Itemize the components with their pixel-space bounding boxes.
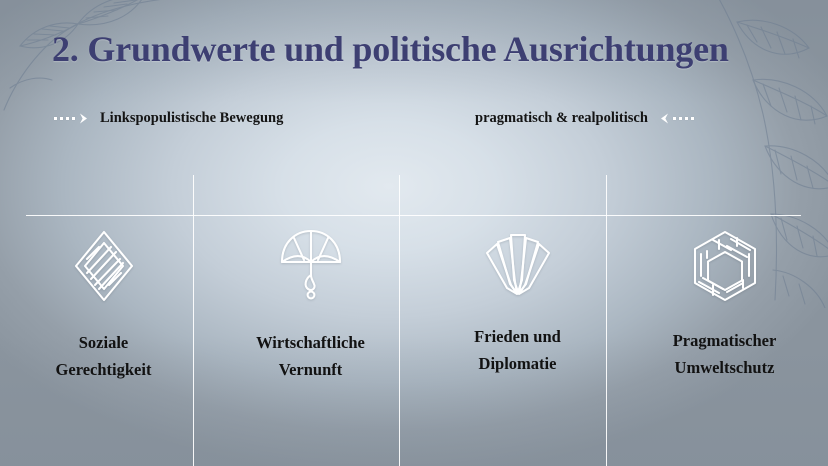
- value-column-soziale-gerechtigkeit: Soziale Gerechtigkeit: [0, 228, 207, 383]
- radiating-fan-icon: [482, 228, 554, 304]
- striped-hexagon-icon: [689, 228, 761, 304]
- axis-label-right: pragmatisch & realpolitisch: [475, 110, 694, 127]
- value-column-wirtschaftliche-vernunft: Wirtschaftliche Vernunft: [207, 228, 414, 383]
- axis-label-right-text: pragmatisch & realpolitisch: [475, 110, 648, 127]
- umbrella-icon: [278, 228, 344, 304]
- values-columns: Soziale Gerechtigkeit Wirtschaftliche Ve…: [0, 228, 828, 383]
- value-column-label: Wirtschaftliche Vernunft: [256, 330, 365, 383]
- slide-canvas: 2. Grundwerte und politische Ausrichtung…: [0, 0, 828, 466]
- layered-diamond-icon: [73, 228, 135, 304]
- axis-label-left: Linkspopulistische Bewegung: [54, 110, 283, 127]
- value-column-pragmatischer-umweltschutz: Pragmatischer Umweltschutz: [621, 228, 828, 383]
- value-column-label: Frieden und Diplomatie: [474, 324, 561, 377]
- value-column-label: Pragmatischer Umweltschutz: [673, 328, 777, 381]
- horizontal-divider: [26, 215, 801, 216]
- dotted-arrow-left-icon: [657, 113, 694, 125]
- page-title: 2. Grundwerte und politische Ausrichtung…: [52, 28, 729, 70]
- value-column-label: Soziale Gerechtigkeit: [56, 330, 152, 383]
- dotted-arrow-right-icon: [54, 113, 91, 125]
- axis-label-left-text: Linkspopulistische Bewegung: [100, 110, 283, 127]
- value-column-frieden-und-diplomatie: Frieden und Diplomatie: [414, 228, 621, 383]
